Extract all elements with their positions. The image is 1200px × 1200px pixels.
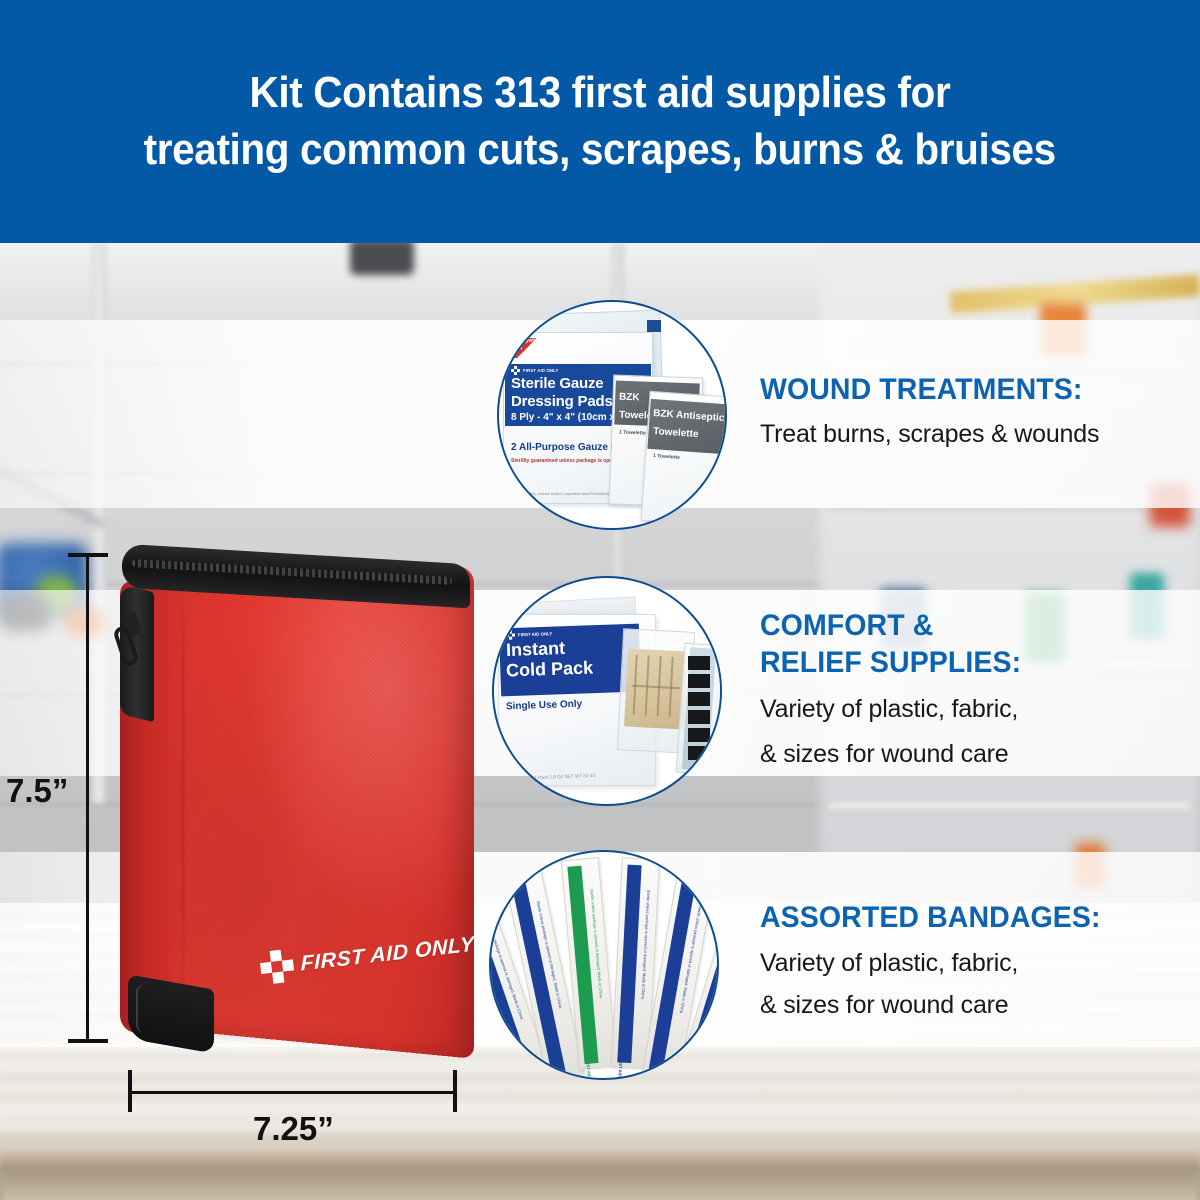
callout-image-wound-treatments: PEEL DOWN TO OPEN FIRST AID ONLY Sterile… <box>497 300 727 530</box>
header-line-1: Kit Contains 313 first aid supplies for <box>250 65 951 121</box>
cold-pack-title-line1: Instant <box>506 639 566 659</box>
callout-title-3: ASSORTED BANDAGES: <box>760 900 1101 937</box>
ceiling-light <box>350 243 414 275</box>
width-dimension-cap-right <box>453 1070 457 1112</box>
callout-subtitle-3a: Variety of plastic, fabric, <box>760 947 1119 980</box>
thermometer-cell <box>688 692 710 706</box>
thermometer-cell <box>688 728 710 742</box>
gauze-footer: © First Aid Only, a Acme United Corporat… <box>511 492 618 496</box>
height-dimension-label: 7.5” <box>6 772 68 810</box>
cold-pack-title-line2: Cold Pack <box>506 658 594 679</box>
infographic-canvas: Kit Contains 313 first aid supplies for … <box>0 0 1200 1200</box>
bag-crease <box>182 574 184 1022</box>
thermometer-cell <box>688 674 710 688</box>
table-underside <box>0 1168 1200 1200</box>
header-line-2: treating common cuts, scrapes, burns & b… <box>144 122 1056 178</box>
width-dimension-line <box>130 1091 456 1094</box>
callout-title-2b: RELIEF SUPPLIES: <box>760 645 1021 682</box>
first-aid-cross-icon <box>259 948 297 986</box>
thermometer-cell <box>688 746 710 760</box>
cold-pack-brand-text: FIRST AID ONLY <box>518 631 552 637</box>
first-aid-cross-icon <box>506 630 515 639</box>
callout-text-wound-treatments: WOUND TREATMENTS: Treat burns, scrapes &… <box>760 372 1099 450</box>
callout-subtitle-2b: & sizes for wound care <box>760 738 1035 771</box>
gauze-title-line1: Sterile Gauze <box>511 376 603 392</box>
bag-front-face <box>172 557 474 1058</box>
bandage-brand: FIRST AID ONLY <box>617 1056 624 1080</box>
gauze-brand-text: FIRST AID ONLY <box>523 368 559 373</box>
callout-title-2a: COMFORT & <box>760 608 1021 645</box>
shelf-board <box>830 803 1190 815</box>
callout-subtitle-2a: Variety of plastic, fabric, <box>760 693 1035 726</box>
callout-title-1: WOUND TREATMENTS: <box>760 372 1082 409</box>
thermometer-cell <box>688 656 710 670</box>
callout-subtitle-1: Treat burns, scrapes & wounds <box>760 418 1099 451</box>
first-aid-bag: FIRST AID ONLY <box>112 548 492 1068</box>
gauze-title-line2: Dressing Pads <box>511 394 613 410</box>
header-banner: Kit Contains 313 first aid supplies for … <box>0 0 1200 243</box>
height-dimension-line <box>86 553 89 1043</box>
bag-fabric-texture <box>172 557 474 1058</box>
callout-subtitle-3b: & sizes for wound care <box>760 989 1119 1022</box>
first-aid-cross-icon <box>511 366 520 375</box>
gauze-brand-lockup: FIRST AID ONLY <box>511 366 559 375</box>
width-dimension-label: 7.25” <box>253 1110 334 1148</box>
callout-text-comfort-relief: COMFORT & RELIEF SUPPLIES: Variety of pl… <box>760 608 1035 770</box>
package-badge <box>647 320 661 332</box>
height-dimension-cap-bottom <box>68 1039 108 1043</box>
callout-image-comfort-relief: FIRST AID ONLY Instant Cold Pack Single … <box>492 576 722 806</box>
bzk-count-1: 1 Towelette <box>619 430 646 437</box>
callout-text-assorted-bandages: ASSORTED BANDAGES: Variety of plastic, f… <box>760 900 1119 1022</box>
callout-image-assorted-bandages: Adhesive Bandage FIRST AID ONLY Adhesive… <box>489 850 719 1080</box>
bandage-fan: Adhesive Bandage FIRST AID ONLY Adhesive… <box>491 852 717 1078</box>
thermometer-cell <box>688 710 710 724</box>
